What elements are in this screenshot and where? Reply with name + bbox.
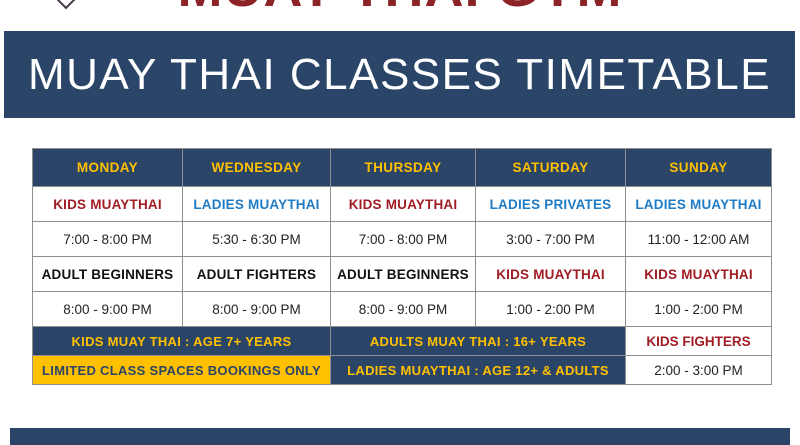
column-header-sunday: SUNDAY: [626, 149, 772, 187]
table-row: 7:00 - 8:00 PM 5:30 - 6:30 PM 7:00 - 8:0…: [33, 222, 772, 257]
class-time-cell: 7:00 - 8:00 PM: [331, 222, 476, 257]
class-time-cell: 8:00 - 9:00 PM: [331, 292, 476, 327]
sunday-extra-class-time: 2:00 - 3:00 PM: [626, 356, 772, 385]
class-name-cell: ADULT BEGINNERS: [331, 257, 476, 292]
note-limited-spaces: LIMITED CLASS SPACES BOOKINGS ONLY: [33, 356, 331, 385]
class-time-cell: 3:00 - 7:00 PM: [476, 222, 626, 257]
table-row: 8:00 - 9:00 PM 8:00 - 9:00 PM 8:00 - 9:0…: [33, 292, 772, 327]
class-name-cell: LADIES PRIVATES: [476, 187, 626, 222]
class-time-cell: 8:00 - 9:00 PM: [33, 292, 183, 327]
title-banner: MUAY THAI CLASSES TIMETABLE: [4, 31, 795, 118]
class-name-cell: KIDS MUAYTHAI: [476, 257, 626, 292]
class-time-cell: 1:00 - 2:00 PM: [626, 292, 772, 327]
notes-row-limited-ladies: LIMITED CLASS SPACES BOOKINGS ONLY LADIE…: [33, 356, 772, 385]
class-time-cell: 7:00 - 8:00 PM: [33, 222, 183, 257]
top-cutoff-strip: MUAY THAI GYM: [0, 0, 800, 22]
note-ladies-age: LADIES MUAYTHAI : AGE 12+ & ADULTS: [331, 356, 626, 385]
note-adults-age: ADULTS MUAY THAI : 16+ YEARS: [331, 327, 626, 356]
table-header-row: MONDAY WEDNESDAY THURSDAY SATURDAY SUNDA…: [33, 149, 772, 187]
column-header-thursday: THURSDAY: [331, 149, 476, 187]
column-header-wednesday: WEDNESDAY: [183, 149, 331, 187]
class-time-cell: 11:00 - 12:00 AM: [626, 222, 772, 257]
note-kids-age: KIDS MUAY THAI : AGE 7+ YEARS: [33, 327, 331, 356]
class-name-cell: LADIES MUAYTHAI: [626, 187, 772, 222]
column-header-monday: MONDAY: [33, 149, 183, 187]
classes-timetable: MONDAY WEDNESDAY THURSDAY SATURDAY SUNDA…: [32, 148, 772, 385]
table-row: ADULT BEGINNERS ADULT FIGHTERS ADULT BEG…: [33, 257, 772, 292]
page-title: MUAY THAI CLASSES TIMETABLE: [28, 50, 771, 100]
class-time-cell: 5:30 - 6:30 PM: [183, 222, 331, 257]
top-cutoff-text: MUAY THAI GYM: [0, 0, 800, 22]
class-name-cell: KIDS MUAYTHAI: [626, 257, 772, 292]
class-name-cell: KIDS MUAYTHAI: [33, 187, 183, 222]
class-time-cell: 8:00 - 9:00 PM: [183, 292, 331, 327]
class-name-cell: LADIES MUAYTHAI: [183, 187, 331, 222]
table-row: KIDS MUAYTHAI LADIES MUAYTHAI KIDS MUAYT…: [33, 187, 772, 222]
class-name-cell: ADULT FIGHTERS: [183, 257, 331, 292]
column-header-saturday: SATURDAY: [476, 149, 626, 187]
notes-row-kids-adults: KIDS MUAY THAI : AGE 7+ YEARS ADULTS MUA…: [33, 327, 772, 356]
class-name-cell: KIDS MUAYTHAI: [331, 187, 476, 222]
bottom-cutoff-bar: [10, 428, 790, 445]
class-time-cell: 1:00 - 2:00 PM: [476, 292, 626, 327]
class-name-cell: ADULT BEGINNERS: [33, 257, 183, 292]
sunday-extra-class-name: KIDS FIGHTERS: [626, 327, 772, 356]
